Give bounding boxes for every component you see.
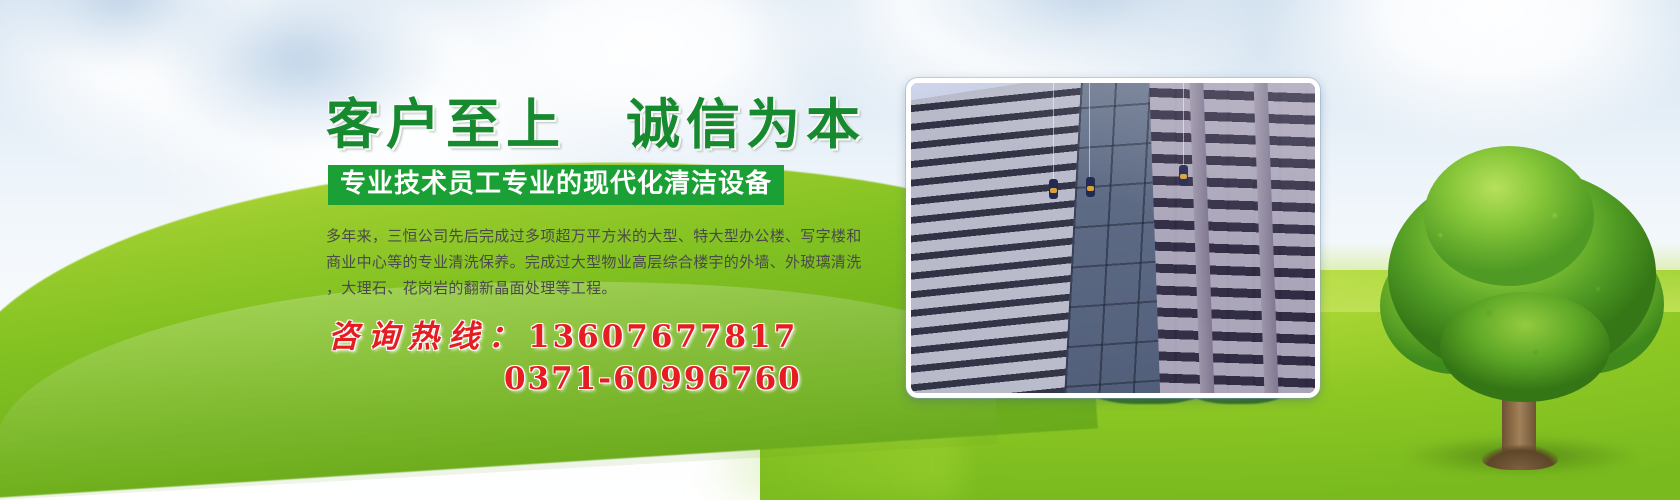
subtitle-text: 专业技术员工专业的现代化清洁设备 <box>340 171 772 197</box>
description-paragraph: 多年来，三恒公司先后完成过多项超万平方米的大型、特大型办公楼、写字楼和 商业中心… <box>326 223 886 301</box>
hotline-row: 咨询热线：13607677817 <box>328 319 892 356</box>
description-line-1: 多年来，三恒公司先后完成过多项超万平方米的大型、特大型办公楼、写字楼和 <box>326 223 886 249</box>
photo-rope <box>1183 83 1184 175</box>
description-line-3: ，大理石、花岗岩的翻新晶面处理等工程。 <box>326 275 886 301</box>
hotline-mobile-number[interactable]: 13607677817 <box>528 319 798 355</box>
tree-illustration <box>1380 142 1660 472</box>
building-photo <box>906 78 1320 398</box>
hotline-label: 咨询热线： <box>328 319 528 355</box>
photo-rope <box>1053 83 1054 191</box>
description-line-2: 商业中心等的专业清洗保养。完成过大型物业高层综合楼宇的外墙、外玻璃清洗 <box>326 249 886 275</box>
tree-leaf-texture <box>1386 162 1658 406</box>
photo-tower-right-windows <box>1148 78 1320 398</box>
photo-window-cleaner <box>1086 177 1095 197</box>
photo-tower-pillar <box>1317 78 1320 398</box>
banner-text-content: 客户至上 诚信为本 专业技术员工专业的现代化清洁设备 多年来，三恒公司先后完成过… <box>322 96 892 398</box>
photo-rope <box>1089 83 1090 187</box>
photo-tower-right <box>1148 78 1320 398</box>
page-title: 客户至上 诚信为本 <box>326 96 892 153</box>
promo-banner: 客户至上 诚信为本 专业技术员工专业的现代化清洁设备 多年来，三恒公司先后完成过… <box>0 0 1680 500</box>
photo-window-cleaner <box>1179 165 1188 185</box>
hotline-landline-number[interactable]: 0371-60996760 <box>328 361 892 398</box>
photo-window-cleaner <box>1049 179 1058 199</box>
subtitle-bar: 专业技术员工专业的现代化清洁设备 <box>328 165 784 205</box>
contact-block: 咨询热线：13607677817 0371-60996760 <box>328 319 892 398</box>
